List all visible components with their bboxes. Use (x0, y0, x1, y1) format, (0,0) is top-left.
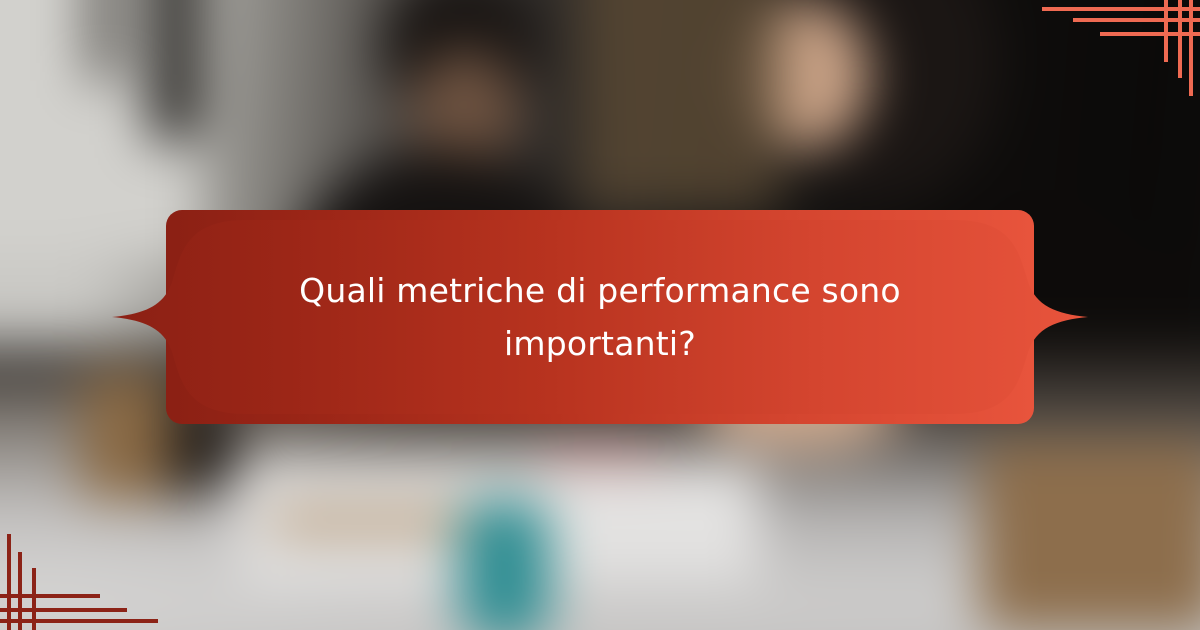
corner-tr-vline-2 (1178, 0, 1182, 78)
background-frame-edge (90, 0, 120, 80)
ribbon-badge: Quali metriche di performance sono impor… (108, 196, 1092, 438)
corner-tr-hline-1 (1042, 7, 1200, 11)
corner-bl-hline-1 (0, 619, 158, 623)
corner-ornament-top-right (1030, 0, 1200, 100)
corner-bl-vline-1 (7, 534, 11, 630)
background-frame-dark (150, 0, 196, 140)
ribbon-main-body (112, 220, 1088, 414)
corner-bl-vline-2 (18, 552, 22, 630)
background-wood-right (980, 440, 1200, 630)
background-wall-warm (580, 0, 780, 210)
background-chart-accent (540, 440, 660, 466)
share-card: Quali metriche di performance sono impor… (0, 0, 1200, 630)
corner-tr-hline-3 (1100, 32, 1200, 36)
background-teal-object (460, 500, 550, 630)
corner-ornament-bottom-left (0, 530, 170, 630)
corner-tr-vline-1 (1189, 0, 1193, 96)
ribbon-badge-shape (108, 196, 1092, 438)
corner-tr-vline-3 (1164, 0, 1168, 62)
corner-bl-vline-3 (32, 568, 36, 630)
corner-bl-hline-3 (0, 594, 100, 598)
